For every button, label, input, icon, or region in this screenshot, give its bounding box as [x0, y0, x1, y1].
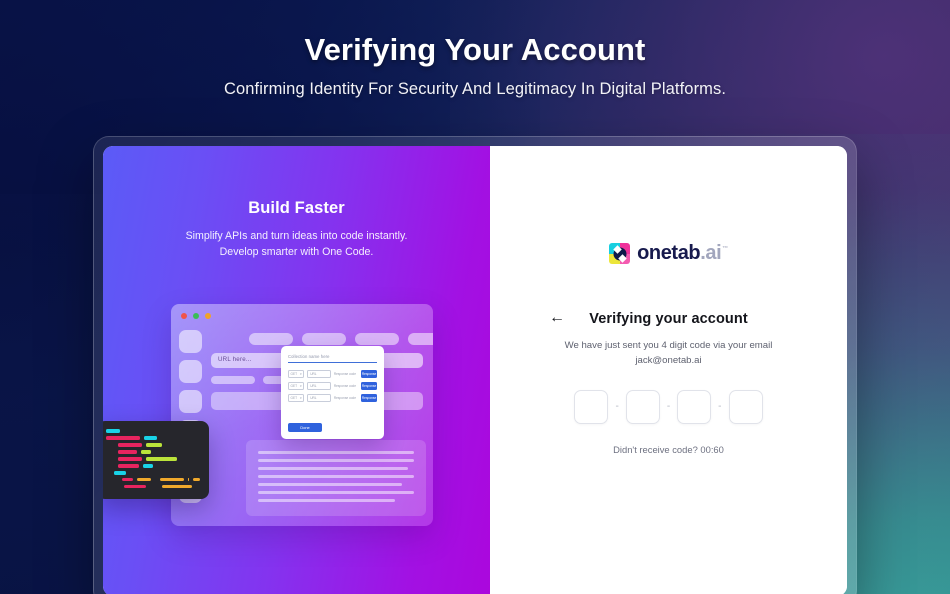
method-select: GET▾	[288, 394, 304, 402]
mock-content-lines	[246, 440, 426, 516]
brand-name: onetab	[637, 242, 700, 265]
promo-description: Simplify APIs and turn ideas into code i…	[179, 228, 415, 261]
response-code-label: Response code	[334, 396, 358, 400]
brand-suffix: .ai	[700, 242, 721, 265]
otp-digit-1[interactable]	[574, 390, 608, 424]
app-card: Build Faster Simplify APIs and turn idea…	[103, 146, 847, 594]
page-subtitle: Confirming Identity For Security And Leg…	[0, 80, 950, 99]
mock-line	[258, 491, 414, 494]
mock-line	[258, 459, 414, 462]
mock-line	[258, 483, 402, 486]
response-button: Response	[361, 370, 377, 378]
url-input: URL	[307, 394, 331, 402]
brand-logo: onetab .ai ™	[490, 242, 847, 265]
response-button: Response	[361, 382, 377, 390]
auth-title: Verifying your account	[490, 311, 847, 327]
mock-tab	[302, 333, 346, 345]
brand-wordmark: onetab .ai ™	[637, 242, 728, 265]
mock-line	[258, 499, 395, 502]
response-code-label: Response code	[334, 384, 358, 388]
auth-subtitle: We have just sent you 4 digit code via y…	[534, 339, 804, 369]
otp-separator: -	[667, 401, 670, 412]
response-code-label: Response code	[334, 372, 358, 376]
url-input: URL	[307, 382, 331, 390]
mock-chip	[211, 376, 255, 384]
code-line	[106, 485, 200, 489]
code-line	[106, 464, 200, 468]
resend-code-text[interactable]: Didn't receive code? 00:60	[490, 444, 847, 455]
page-header: Verifying Your Account Confirming Identi…	[0, 32, 950, 99]
code-line	[106, 436, 200, 440]
code-editor-mock	[103, 421, 209, 499]
method-select: GET▾	[288, 370, 304, 378]
auth-panel: onetab .ai ™ ← Verifying your account We…	[490, 146, 847, 594]
onetab-logo-icon	[609, 243, 630, 264]
logo-disc-shape	[613, 247, 626, 260]
url-input: URL	[307, 370, 331, 378]
auth-subtitle-email: jack@onetab.ai	[635, 355, 701, 366]
back-arrow-icon[interactable]: ←	[547, 308, 567, 328]
mock-sidebar-item	[179, 390, 202, 413]
page-title: Verifying Your Account	[0, 32, 950, 68]
trademark-icon: ™	[722, 246, 728, 252]
dialog-row: GET▾ URL Response code Response	[288, 370, 377, 378]
mock-url-placeholder: URL here...	[218, 356, 252, 363]
promo-panel: Build Faster Simplify APIs and turn idea…	[103, 146, 490, 594]
otp-digit-2[interactable]	[626, 390, 660, 424]
mock-line	[258, 451, 414, 454]
otp-separator: -	[718, 401, 721, 412]
code-line	[106, 450, 200, 454]
collection-name-underline	[288, 362, 377, 363]
otp-separator: -	[615, 401, 618, 412]
mock-tab	[249, 333, 293, 345]
screenshot-root: Verifying Your Account Confirming Identi…	[0, 0, 950, 594]
method-select: GET▾	[288, 382, 304, 390]
otp-digit-3[interactable]	[677, 390, 711, 424]
code-line	[106, 429, 200, 433]
promo-illustration: URL here...	[103, 296, 490, 536]
mock-sidebar-item	[179, 360, 202, 383]
auth-subtitle-line1: We have just sent you 4 digit code via y…	[565, 340, 773, 351]
otp-digit-4[interactable]	[729, 390, 763, 424]
code-line	[106, 478, 200, 482]
mock-line	[258, 467, 408, 470]
dialog-row: GET▾ URL Response code Response	[288, 382, 377, 390]
minimize-dot-icon	[193, 313, 199, 319]
device-bezel: Build Faster Simplify APIs and turn idea…	[93, 136, 857, 594]
collection-name-placeholder: Collection name here	[288, 354, 377, 359]
promo-title: Build Faster	[103, 199, 490, 218]
collection-dialog-mock: Collection name here GET▾ URL Response c…	[281, 346, 384, 439]
response-button: Response	[361, 394, 377, 402]
maximize-dot-icon	[205, 313, 211, 319]
dialog-rows: GET▾ URL Response code Response GET▾ URL…	[288, 370, 377, 402]
code-line	[106, 471, 200, 475]
mock-line	[258, 475, 414, 478]
otp-input-group: - - -	[490, 390, 847, 424]
close-dot-icon	[181, 313, 187, 319]
mock-sidebar-item	[179, 330, 202, 353]
mock-tab	[408, 333, 433, 345]
code-line	[106, 457, 200, 461]
traffic-lights-icon	[181, 313, 211, 319]
dialog-done-button: Done	[288, 423, 322, 432]
code-line	[106, 443, 200, 447]
mock-tab	[355, 333, 399, 345]
mock-tab-bar	[249, 333, 433, 345]
dialog-row: GET▾ URL Response code Response	[288, 394, 377, 402]
